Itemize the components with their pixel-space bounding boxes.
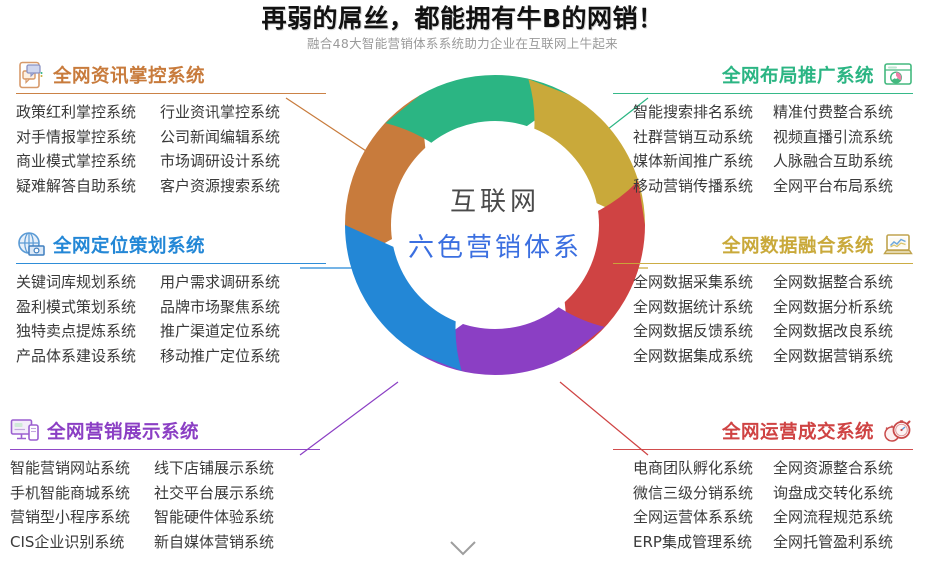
panel-list: 全网数据采集系统全网数据整合系统 全网数据统计系统全网数据分析系统 全网数据反馈… — [613, 270, 913, 368]
list-item: 人脉融合互助系统 — [773, 149, 913, 174]
header: 再弱的屌丝，都能拥有牛B的网销！ 融合48大智能营销体系系统助力企业在互联网上牛… — [0, 0, 925, 53]
panel-info-control[interactable]: 全网资讯掌控系统 政策红利掌控系统行业资讯掌控系统 对手情报掌控系统公司新闻编辑… — [16, 58, 326, 198]
list-item: 全网数据营销系统 — [773, 344, 913, 369]
list-item: 盈利模式策划系统 — [16, 295, 160, 320]
list-item: 移动营销传播系统 — [633, 174, 773, 199]
panel-header: 全网布局推广系统 — [613, 58, 913, 92]
list-item: 政策红利掌控系统 — [16, 100, 160, 125]
list-row[interactable]: 媒体新闻推广系统人脉融合互助系统 — [613, 149, 913, 174]
list-item: 全网数据整合系统 — [773, 270, 913, 295]
panel-marketing-display[interactable]: 全网营销展示系统 智能营销网站系统线下店铺展示系统 手机智能商城系统社交平台展示… — [10, 414, 320, 554]
list-row[interactable]: 全网数据反馈系统全网数据改良系统 — [613, 319, 913, 344]
list-item: 全网数据采集系统 — [633, 270, 773, 295]
list-row[interactable]: 产品体系建设系统移动推广定位系统 — [16, 344, 326, 369]
panel-header: 全网营销展示系统 — [10, 414, 320, 448]
list-item: 行业资讯掌控系统 — [160, 100, 280, 125]
page-subtitle: 融合48大智能营销体系系统助力企业在互联网上牛起来 — [0, 35, 925, 53]
panel-list: 智能搜索排名系统精准付费整合系统 社群营销互动系统视频直播引流系统 媒体新闻推广… — [613, 100, 913, 198]
list-item: 线下店铺展示系统 — [154, 456, 274, 481]
list-row[interactable]: 全网运营体系系统全网流程规范系统 — [613, 505, 913, 530]
list-item: 电商团队孵化系统 — [633, 456, 773, 481]
list-item: 全网数据改良系统 — [773, 319, 913, 344]
panel-title: 全网数据融合系统 — [722, 232, 874, 258]
aperture-graphic — [330, 60, 660, 390]
globe-money-icon — [16, 231, 46, 259]
list-item: 微信三级分销系统 — [633, 481, 773, 506]
list-item: 视频直播引流系统 — [773, 125, 913, 150]
list-item: 媒体新闻推广系统 — [633, 149, 773, 174]
page-title: 再弱的屌丝，都能拥有牛B的网销！ — [0, 4, 925, 34]
list-row[interactable]: ERP集成管理系统全网托管盈利系统 — [613, 530, 913, 555]
panel-divider — [16, 263, 326, 264]
infographic-canvas: 再弱的屌丝，都能拥有牛B的网销！ 融合48大智能营销体系系统助力企业在互联网上牛… — [0, 0, 925, 562]
panel-divider — [613, 449, 913, 450]
panel-divider — [10, 449, 320, 450]
panel-list: 关键词库规划系统用户需求调研系统 盈利模式策划系统品牌市场聚焦系统 独特卖点提炼… — [16, 270, 326, 368]
panel-layout-promotion[interactable]: 全网布局推广系统 智能搜索排名系统精准付费整合系统 社群营销互动系统视频直播引流… — [613, 58, 913, 198]
list-item: 精准付费整合系统 — [773, 100, 913, 125]
list-item: 全网运营体系系统 — [633, 505, 773, 530]
list-item: 营销型小程序系统 — [10, 505, 154, 530]
list-row[interactable]: CIS企业识别系统新自媒体营销系统 — [10, 530, 320, 555]
list-item: 移动推广定位系统 — [160, 344, 280, 369]
panel-list: 智能营销网站系统线下店铺展示系统 手机智能商城系统社交平台展示系统 营销型小程序… — [10, 456, 320, 554]
list-row[interactable]: 电商团队孵化系统全网资源整合系统 — [613, 456, 913, 481]
monitor-phone-icon — [10, 417, 40, 445]
panel-title: 全网布局推广系统 — [722, 62, 874, 88]
list-row[interactable]: 社群营销互动系统视频直播引流系统 — [613, 125, 913, 150]
list-item: 全网平台布局系统 — [773, 174, 913, 199]
panel-operation-deal[interactable]: 全网运营成交系统 电商团队孵化系统全网资源整合系统 微 — [613, 414, 913, 554]
aperture-center-hole — [391, 121, 599, 329]
chevron-down-icon[interactable] — [449, 540, 477, 556]
list-item: 全网数据集成系统 — [633, 344, 773, 369]
list-row[interactable]: 对手情报掌控系统公司新闻编辑系统 — [16, 125, 326, 150]
list-item: 全网数据分析系统 — [773, 295, 913, 320]
list-item: 独特卖点提炼系统 — [16, 319, 160, 344]
list-row[interactable]: 全网数据集成系统全网数据营销系统 — [613, 344, 913, 369]
list-item: 智能搜索排名系统 — [633, 100, 773, 125]
list-item: 关键词库规划系统 — [16, 270, 160, 295]
list-row[interactable]: 政策红利掌控系统行业资讯掌控系统 — [16, 100, 326, 125]
list-item: 智能营销网站系统 — [10, 456, 154, 481]
panel-positioning-planning[interactable]: 全网定位策划系统 关键词库规划系统用户需求调研系统 盈利模式策划系统品牌市场聚焦… — [16, 228, 326, 368]
list-row[interactable]: 营销型小程序系统智能硬件体验系统 — [10, 505, 320, 530]
browser-gauge-icon — [883, 61, 913, 89]
panel-divider — [613, 263, 913, 264]
panel-list: 电商团队孵化系统全网资源整合系统 微信三级分销系统询盘成交转化系统 全网运营体系… — [613, 456, 913, 554]
panel-header: 全网资讯掌控系统 — [16, 58, 326, 92]
panel-title: 全网定位策划系统 — [53, 232, 205, 258]
list-item: 对手情报掌控系统 — [16, 125, 160, 150]
list-item: 全网资源整合系统 — [773, 456, 913, 481]
list-row[interactable]: 智能营销网站系统线下店铺展示系统 — [10, 456, 320, 481]
laptop-chart-icon — [883, 231, 913, 259]
list-item: 公司新闻编辑系统 — [160, 125, 280, 150]
list-item: 手机智能商城系统 — [10, 481, 154, 506]
list-item: 全网流程规范系统 — [773, 505, 913, 530]
list-item: 推广渠道定位系统 — [160, 319, 280, 344]
list-item: 商业模式掌控系统 — [16, 149, 160, 174]
list-item: 社交平台展示系统 — [154, 481, 274, 506]
list-item: 询盘成交转化系统 — [773, 481, 913, 506]
list-item: ERP集成管理系统 — [633, 530, 773, 555]
list-row[interactable]: 全网数据采集系统全网数据整合系统 — [613, 270, 913, 295]
panel-data-fusion[interactable]: 全网数据融合系统 全网数据采集系统全网数据整合系统 全网数据统计系统全网数据分析… — [613, 228, 913, 368]
list-row[interactable]: 关键词库规划系统用户需求调研系统 — [16, 270, 326, 295]
list-row[interactable]: 盈利模式策划系统品牌市场聚焦系统 — [16, 295, 326, 320]
list-item: 疑难解答自助系统 — [16, 174, 160, 199]
panel-title: 全网运营成交系统 — [722, 418, 874, 444]
list-row[interactable]: 全网数据统计系统全网数据分析系统 — [613, 295, 913, 320]
panel-header: 全网数据融合系统 — [613, 228, 913, 262]
list-row[interactable]: 微信三级分销系统询盘成交转化系统 — [613, 481, 913, 506]
list-item: 全网托管盈利系统 — [773, 530, 913, 555]
panel-divider — [613, 93, 913, 94]
panel-header: 全网运营成交系统 — [613, 414, 913, 448]
list-item: 社群营销互动系统 — [633, 125, 773, 150]
list-row[interactable]: 手机智能商城系统社交平台展示系统 — [10, 481, 320, 506]
panel-title: 全网营销展示系统 — [47, 418, 199, 444]
list-item: 智能硬件体验系统 — [154, 505, 274, 530]
list-item: 品牌市场聚焦系统 — [160, 295, 280, 320]
panel-divider — [16, 93, 326, 94]
list-row[interactable]: 独特卖点提炼系统推广渠道定位系统 — [16, 319, 326, 344]
list-item: 用户需求调研系统 — [160, 270, 280, 295]
list-item: 客户资源搜索系统 — [160, 174, 280, 199]
list-item: CIS企业识别系统 — [10, 530, 154, 555]
list-row[interactable]: 商业模式掌控系统市场调研设计系统 — [16, 149, 326, 174]
list-row[interactable]: 移动营销传播系统全网平台布局系统 — [613, 174, 913, 199]
list-item: 全网数据反馈系统 — [633, 319, 773, 344]
tablet-chat-icon — [16, 61, 46, 89]
list-item: 全网数据统计系统 — [633, 295, 773, 320]
list-item: 新自媒体营销系统 — [154, 530, 274, 555]
list-row[interactable]: 智能搜索排名系统精准付费整合系统 — [613, 100, 913, 125]
panel-title: 全网资讯掌控系统 — [53, 62, 205, 88]
list-row[interactable]: 疑难解答自助系统客户资源搜索系统 — [16, 174, 326, 199]
stopwatch-gear-icon — [883, 417, 913, 445]
list-item: 市场调研设计系统 — [160, 149, 280, 174]
list-item: 产品体系建设系统 — [16, 344, 160, 369]
panel-header: 全网定位策划系统 — [16, 228, 326, 262]
panel-list: 政策红利掌控系统行业资讯掌控系统 对手情报掌控系统公司新闻编辑系统 商业模式掌控… — [16, 100, 326, 198]
